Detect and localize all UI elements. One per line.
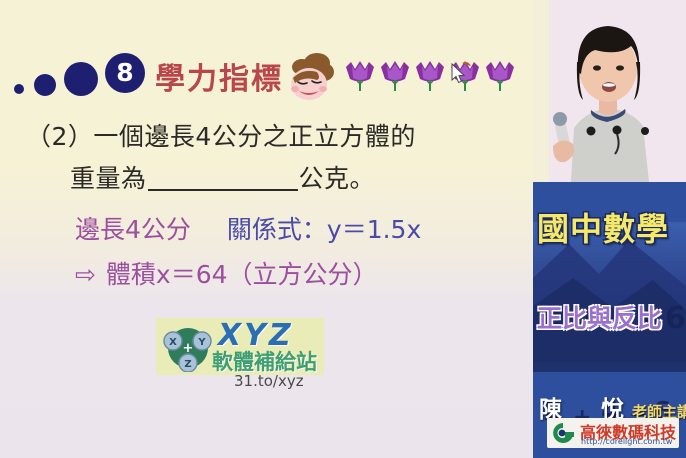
decoration-dot-small xyxy=(14,84,24,94)
course-main-title: 國中數學 xyxy=(537,204,686,250)
tulip-flower-icon xyxy=(378,58,412,94)
solution-row-given: 邊長4公分 關係式：y＝1.5x xyxy=(75,208,533,251)
solution-given: 邊長4公分 xyxy=(75,208,191,251)
slide-area: 8 學力指標 xyxy=(0,0,533,458)
course-title-card: 2 + 4 = 6 2 + 4 = 6 國中數學 正比與反比 陳 悅老師主講 xyxy=(533,182,686,458)
presenter-video xyxy=(533,0,686,182)
xyz-site-name: 軟體補給站 xyxy=(212,346,317,375)
question-text-1: 一個邊長4公分之正立方體的 xyxy=(93,122,415,151)
sponsor-mark-icon xyxy=(550,421,576,445)
solution-block: 邊長4公分 關係式：y＝1.5x ⇨ 體積x＝64（立方公分） xyxy=(75,208,533,296)
mouse-cursor-icon xyxy=(451,63,467,85)
xyz-watermark: X Y Z + XYZ 軟體補給站 31.to/xyz xyxy=(156,318,324,394)
section-title: 學力指標 xyxy=(155,54,283,98)
svg-text:X: X xyxy=(169,337,177,348)
tulip-flower-icon xyxy=(483,58,517,94)
presenter-figure-icon xyxy=(533,0,686,182)
lecture-video-screen: 8 學力指標 xyxy=(0,0,686,458)
course-sub-title: 正比與反比 xyxy=(537,299,686,335)
xyz-site-url: 31.to/xyz xyxy=(234,372,304,390)
implies-arrow-icon: ⇨ xyxy=(75,260,98,289)
question-line-1: （2）一個邊長4公分之正立方體的 xyxy=(26,116,526,158)
svg-text:+: + xyxy=(183,341,194,356)
decoration-dot-medium xyxy=(34,74,56,96)
section-number-badge: 8 xyxy=(105,53,145,93)
solution-row-result: ⇨ 體積x＝64（立方公分） xyxy=(75,253,533,296)
xyz-watermark-banner: X Y Z + XYZ 軟體補給站 xyxy=(156,318,324,375)
question-line-2: 重量為公克。 xyxy=(26,158,526,200)
svg-text:Z: Z xyxy=(184,359,191,370)
xyz-logo-icon: X Y Z + xyxy=(162,322,214,372)
question-text-2-pre: 重量為 xyxy=(70,164,147,193)
solution-relation: 關係式：y＝1.5x xyxy=(227,208,421,251)
girl-face-icon xyxy=(287,50,337,102)
tulip-flower-icon xyxy=(343,58,377,94)
tulip-flower-icon xyxy=(413,58,447,94)
svg-text:Y: Y xyxy=(197,337,206,348)
right-panel: 2 + 4 = 6 2 + 4 = 6 國中數學 正比與反比 陳 悅老師主講 xyxy=(533,0,686,458)
question-number: （2） xyxy=(26,122,93,151)
sponsor-logo[interactable]: 高徠數碼科技 http://corelight.com.tw xyxy=(547,418,679,448)
solution-result: 體積x＝64（立方公分） xyxy=(106,260,378,289)
question-block: （2）一個邊長4公分之正立方體的 重量為公克。 xyxy=(26,116,526,200)
sponsor-url: http://corelight.com.tw xyxy=(581,437,672,446)
question-text-2-post: 公克。 xyxy=(299,164,376,193)
decoration-dot-large xyxy=(64,62,98,96)
answer-blank xyxy=(148,164,298,191)
